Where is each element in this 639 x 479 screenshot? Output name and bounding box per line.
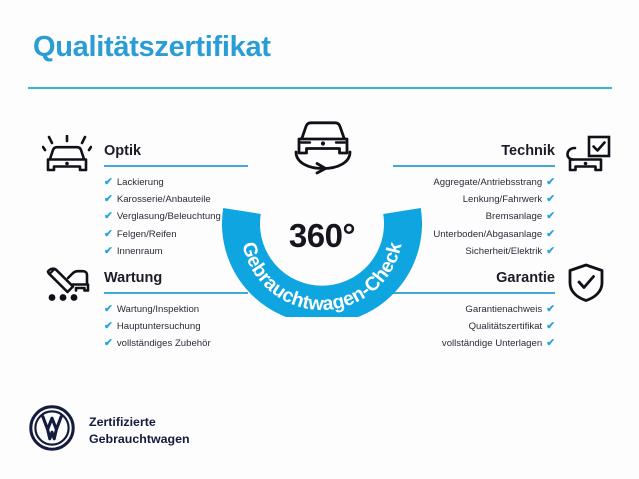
header-divider: [28, 87, 612, 89]
checklist-optik: ✔Lackierung ✔Karosserie/Anbauteile ✔Verg…: [22, 174, 248, 260]
vw-logo-icon: [28, 404, 76, 457]
list-item-label: Aggregate/Antriebsstrang: [433, 177, 542, 188]
section-title-technik: Technik: [501, 143, 555, 159]
list-item: Qualitätszertifikat✔: [393, 318, 555, 335]
car-rotation-icon: [284, 112, 362, 178]
list-item-label: Wartung/Inspektion: [117, 304, 199, 315]
check-icon: ✔: [546, 210, 555, 222]
check-icon: ✔: [546, 320, 555, 332]
vw-certified-logo: Zertifizierte Gebrauchtwagen: [28, 404, 190, 457]
list-item: ✔Hauptuntersuchung: [104, 318, 248, 335]
list-item-label: Sicherheit/Elektrik: [465, 246, 542, 257]
check-icon: ✔: [546, 337, 555, 349]
qualitaetszertifikat-page: Qualitätszertifikat Optik ✔Lacki: [0, 0, 639, 479]
list-item-label: Qualitätszertifikat: [469, 321, 543, 332]
check-icon: ✔: [104, 176, 113, 188]
list-item-label: Garantienachweis: [465, 304, 542, 315]
check-icon: ✔: [546, 228, 555, 240]
section-technik: Technik Aggregate/Antriebsstrang✔ Lenkun…: [393, 137, 617, 260]
list-item-label: vollständiges Zubehör: [117, 338, 211, 349]
list-item-label: Bremsanlage: [486, 211, 543, 222]
list-item: vollständige Unterlagen✔: [393, 335, 555, 352]
check-icon: ✔: [104, 228, 113, 240]
check-icon: ✔: [104, 337, 113, 349]
gebrauchtwagen-check-badge: Gebrauchtwagen-Check 360°: [222, 112, 422, 317]
check-icon: ✔: [104, 320, 113, 332]
section-title-garantie: Garantie: [496, 270, 555, 286]
section-optik: Optik ✔Lackierung ✔Karosserie/Anbauteile…: [22, 137, 248, 260]
list-item-label: Unterboden/Abgasanlage: [433, 229, 542, 240]
list-item-label: Lackierung: [117, 177, 164, 188]
check-icon: ✔: [546, 176, 555, 188]
vw-certified-label: Zertifizierte Gebrauchtwagen: [89, 414, 190, 447]
list-item: ✔vollständiges Zubehör: [104, 335, 248, 352]
check-icon: ✔: [546, 193, 555, 205]
check-icon: ✔: [546, 245, 555, 257]
checklist-technik: Aggregate/Antriebsstrang✔ Lenkung/Fahrwe…: [393, 174, 617, 260]
badge-center-value: 360°: [222, 217, 422, 255]
section-title-optik: Optik: [104, 143, 141, 159]
list-item-label: Verglasung/Beleuchtung: [117, 211, 221, 222]
list-item-label: Felgen/Reifen: [117, 229, 177, 240]
check-icon: ✔: [546, 303, 555, 315]
list-item-label: Hauptuntersuchung: [117, 321, 201, 332]
list-item-label: Karosserie/Anbauteile: [117, 194, 211, 205]
section-title-wartung: Wartung: [104, 270, 162, 286]
section-wartung: Wartung ✔Wartung/Inspektion ✔Hauptunters…: [22, 264, 248, 353]
check-icon: ✔: [104, 245, 113, 257]
check-icon: ✔: [104, 303, 113, 315]
check-icon: ✔: [104, 210, 113, 222]
list-item-label: Lenkung/Fahrwerk: [463, 194, 542, 205]
list-item-label: vollständige Unterlagen: [442, 338, 542, 349]
page-title: Qualitätszertifikat: [33, 31, 271, 64]
check-icon: ✔: [104, 193, 113, 205]
section-garantie: Garantie Garantienachweis✔ Qualitätszert…: [393, 264, 617, 353]
list-item-label: Innenraum: [117, 246, 163, 257]
